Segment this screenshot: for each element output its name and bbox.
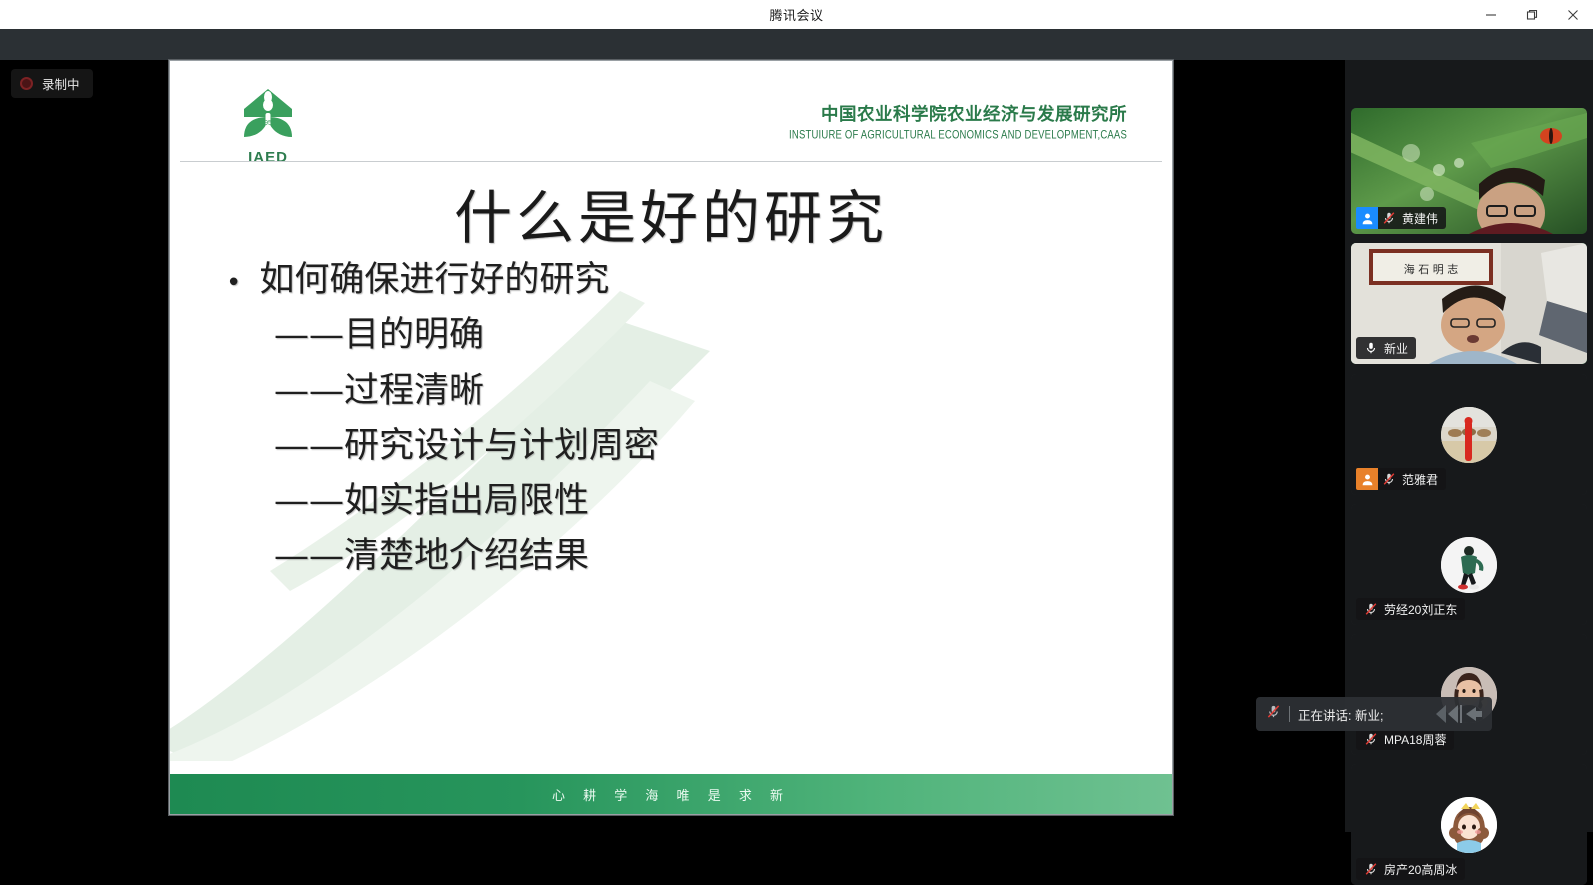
mic-active-icon xyxy=(1360,341,1382,355)
avatar xyxy=(1441,797,1497,853)
mic-muted-icon xyxy=(1378,472,1400,486)
participant-name: 新业 xyxy=(1382,340,1408,357)
close-button[interactable] xyxy=(1552,0,1593,29)
speaking-text: 正在讲话: 新业; xyxy=(1298,705,1383,724)
organization-name-en: INSTUIURE OF AGRICULTURAL ECONOMICS AND … xyxy=(789,129,1127,143)
participant-name: 黄建伟 xyxy=(1400,210,1438,227)
participant-name: MPA18周蓉 xyxy=(1382,731,1446,748)
sub-item-3: ——如实指出局限性 xyxy=(226,474,1106,529)
participant-name: 房产20高周冰 xyxy=(1382,861,1457,878)
minimize-button[interactable] xyxy=(1470,0,1511,29)
collapse-arrows-icon xyxy=(1432,703,1486,725)
sub-item-2: ——研究设计与计划周密 xyxy=(226,419,1106,474)
mic-muted-icon xyxy=(1360,732,1382,746)
meeting-toolbar xyxy=(0,29,1593,60)
organization-block: 中国农业科学院农业经济与发展研究所 INSTUIURE OF AGRICULTU… xyxy=(789,101,1127,141)
bullet-item: • 如何确保进行好的研究 xyxy=(226,253,1106,308)
slide-body: • 如何确保进行好的研究 ——目的明确 ——过程清晰 ——研究设计与计划周密 —… xyxy=(226,253,1106,585)
sub-item-1: ——过程清晰 xyxy=(226,364,1106,419)
participant-tile[interactable]: 黄建伟 xyxy=(1351,108,1587,234)
participant-nameplate: 劳经20刘正东 xyxy=(1356,598,1465,620)
participant-nameplate: 范雅君 xyxy=(1356,468,1446,490)
window-title: 腾讯会议 xyxy=(769,5,823,24)
presentation-slide: 1958 IAED 中国农业科学院农业经济与发展研究所 INSTUIURE OF… xyxy=(169,60,1173,815)
speaking-indicator: 正在讲话: 新业; xyxy=(1256,697,1426,731)
user-icon xyxy=(1356,207,1378,229)
svg-text:海 石 明 志: 海 石 明 志 xyxy=(1404,262,1459,276)
organization-name-cn: 中国农业科学院农业经济与发展研究所 xyxy=(789,101,1127,126)
recording-label: 录制中 xyxy=(42,74,80,93)
participant-tile[interactable]: MPA18周蓉 xyxy=(1351,634,1587,755)
sub-item-0: ——目的明确 xyxy=(226,308,1106,363)
participant-tile[interactable]: 房产20高周冰 xyxy=(1351,764,1587,885)
slide-footer-text: 心 耕 学 海 唯 是 求 新 xyxy=(552,785,790,804)
svg-text:1958: 1958 xyxy=(260,120,276,127)
mic-muted-icon xyxy=(1378,211,1400,225)
divider xyxy=(1289,706,1290,722)
mic-muted-icon xyxy=(1360,602,1382,616)
window-controls xyxy=(1470,0,1593,29)
participant-name: 范雅君 xyxy=(1400,471,1438,488)
user-icon xyxy=(1356,468,1378,490)
recording-badge: 录制中 xyxy=(11,69,93,98)
bullet-marker-icon: • xyxy=(226,270,241,296)
mic-muted-icon xyxy=(1360,862,1382,876)
recording-indicator-icon xyxy=(20,77,33,90)
avatar xyxy=(1441,537,1497,593)
participant-name: 劳经20刘正东 xyxy=(1382,601,1457,618)
participant-nameplate: 房产20高周冰 xyxy=(1356,858,1465,880)
mic-muted-icon xyxy=(1266,704,1281,724)
participant-nameplate: MPA18周蓉 xyxy=(1356,728,1454,750)
window-title-bar: 腾讯会议 xyxy=(0,0,1593,29)
bullet-text: 如何确保进行好的研究 xyxy=(259,253,609,308)
shared-screen-stage: 录制中 1958 IAED xyxy=(0,60,1345,832)
participant-tile[interactable]: 劳经20刘正东 xyxy=(1351,504,1587,625)
participant-tile[interactable]: 海 石 明 志 新业 xyxy=(1351,243,1587,364)
maximize-button[interactable] xyxy=(1511,0,1552,29)
panel-nav-controls[interactable] xyxy=(1426,697,1492,731)
header-divider xyxy=(180,161,1162,162)
participant-nameplate: 新业 xyxy=(1356,337,1416,359)
wheat-emblem-icon: 1958 xyxy=(239,87,297,143)
participant-nameplate: 黄建伟 xyxy=(1356,207,1446,229)
participant-tile[interactable]: 范雅君 xyxy=(1351,374,1587,495)
slide-title: 什么是好的研究 xyxy=(170,171,1172,255)
iaed-logo: 1958 IAED xyxy=(232,87,304,166)
avatar xyxy=(1441,407,1497,463)
slide-footer: 心 耕 学 海 唯 是 求 新 xyxy=(170,774,1172,814)
iaed-logo-text: IAED xyxy=(232,149,304,166)
sub-item-4: ——清楚地介绍结果 xyxy=(226,529,1106,584)
slide-header: 1958 IAED 中国农业科学院农业经济与发展研究所 INSTUIURE OF… xyxy=(170,61,1172,169)
